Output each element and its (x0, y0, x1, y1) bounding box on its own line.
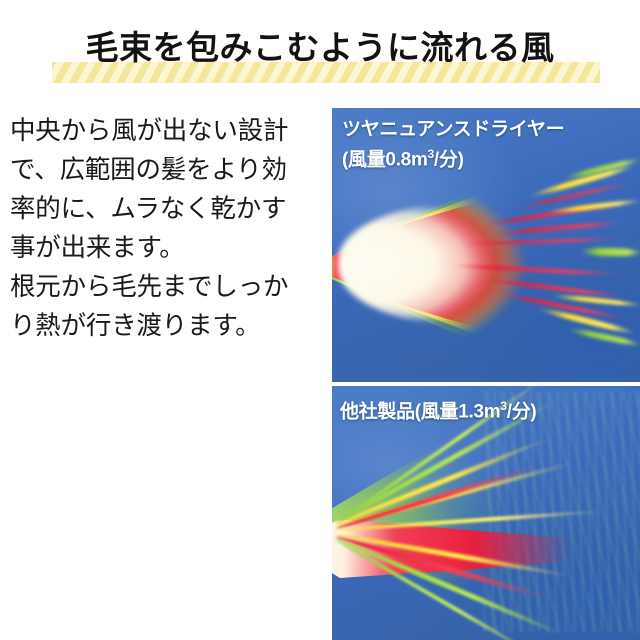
page-title-area: 毛束を包みこむように流れる風 (0, 22, 640, 90)
thermal-image-competitor-product: 他社製品(風量1.3m3/分) (332, 386, 640, 640)
competitor-suffix: /分) (507, 401, 537, 422)
panel-label-own-product: ツヤニュアンスドライヤー (風量0.8m3/分) (342, 118, 564, 172)
description-line: 事が出来ます。 (10, 229, 316, 268)
panel-label-line2: (風量0.8m3/分) (342, 142, 564, 172)
panel-label-line1: 他社製品(風量1.3m3/分) (340, 394, 536, 424)
panel-label-competitor-product: 他社製品(風量1.3m3/分) (340, 394, 536, 424)
competitor-prefix: 他社製品(風量1.3m (340, 401, 500, 422)
page-title: 毛束を包みこむように流れる風 (0, 22, 640, 74)
description-line: 根元から毛先までしっか (10, 268, 316, 307)
description-text: 中央から風が出ない設計 で、広範囲の髪をより効 率的に、ムラなく乾かす 事が出来… (10, 112, 316, 346)
thermal-image-own-product: ツヤニュアンスドライヤー (風量0.8m3/分) (332, 108, 640, 382)
airflow-suffix: /分) (434, 149, 464, 170)
description-line: 中央から風が出ない設計 (10, 112, 316, 151)
description-line: 率的に、ムラなく乾かす (10, 190, 316, 229)
description-line: で、広範囲の髪をより効 (10, 151, 316, 190)
panel-label-line1: ツヤニュアンスドライヤー (342, 118, 564, 142)
airflow-prefix: (風量0.8m (342, 149, 428, 170)
description-line: り熱が行き渡ります。 (10, 307, 316, 346)
